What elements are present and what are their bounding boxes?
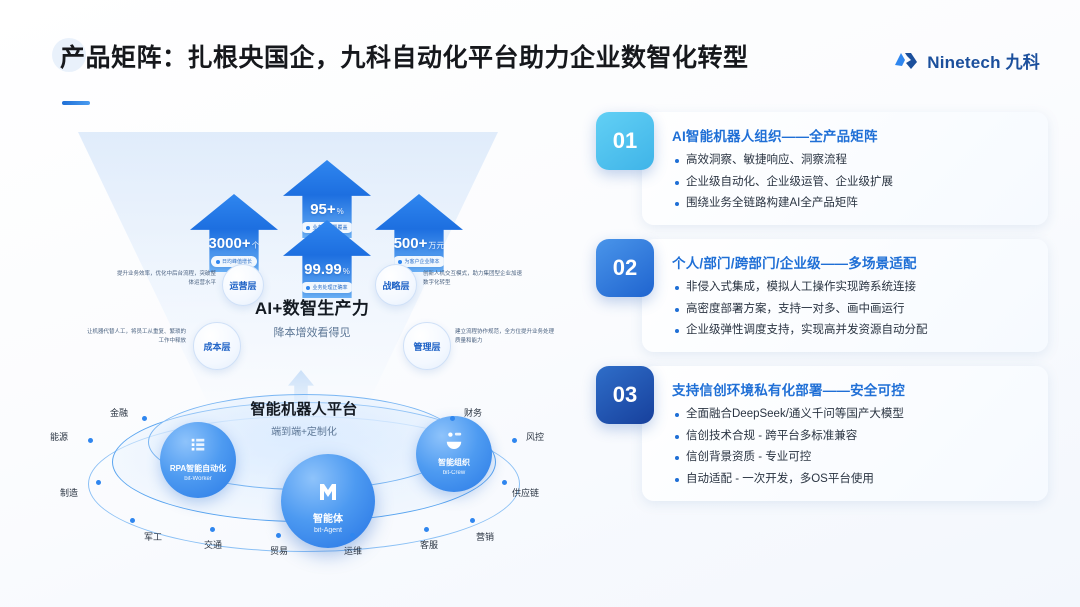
card-title: AI智能机器人组织——全产品矩阵: [672, 125, 1032, 145]
card-title: 个人/部门/跨部门/企业级——多场景适配: [672, 252, 1032, 272]
platform-node-crew[interactable]: 智能组织 bit-Crew: [416, 416, 492, 492]
metric-unit: %: [337, 207, 344, 216]
node-name: 智能体: [313, 514, 343, 525]
metric-number: 3000+: [208, 235, 250, 252]
card-bullet: 企业级弹性调度支持，实现高并发资源自动分配: [672, 322, 1032, 339]
industry-dot: [450, 416, 455, 421]
layer-note-strategy: 创新人机交互模式，助力集团型企业加速数字化转型: [423, 270, 527, 287]
card-bullet: 信创背景资质 - 专业可控: [672, 449, 1032, 466]
industry-dot: [142, 416, 147, 421]
card-bullet: 自动适配 - 一次开发，多OS平台使用: [672, 471, 1032, 488]
industry-label-trade: 贸易: [270, 544, 288, 557]
card-bullet: 高效洞察、敏捷响应、洞察流程: [672, 152, 1032, 169]
platform-node-agent[interactable]: 智能体 bit-Agent: [281, 454, 375, 548]
funnel-core-label: AI+数智生产力 降本增效看得见: [212, 294, 412, 340]
card-bullet-list: 非侵入式集成，模拟人工操作实现跨系统连接 高密度部署方案，支持一对多、画中画运行…: [672, 279, 1032, 339]
industry-label-marketing: 营销: [476, 530, 494, 543]
node-subname: bit-Agent: [314, 527, 342, 534]
card-bullet: 全面融合DeepSeek/通义千问等国产大模型: [672, 406, 1032, 423]
core-title: AI+数智生产力: [212, 294, 412, 319]
title-accent-bar: [62, 101, 90, 105]
layer-note-management: 建立流程协作规范，全方位提升业务处理质量和能力: [455, 328, 559, 345]
logo-text: Ninetech 九科: [927, 48, 1040, 73]
industry-label-risk: 风控: [526, 430, 544, 443]
industry-dot: [470, 518, 475, 523]
card-bullet: 信创技术合规 - 跨平台多标准兼容: [672, 428, 1032, 445]
metric-value: 3000+个: [208, 236, 259, 251]
platform-node-rpa[interactable]: RPA智能自动化 bit-Worker: [160, 422, 236, 498]
slide-root: 产品矩阵：扎根央国企，九科自动化平台助力企业数智化转型 Ninetech 九科 …: [0, 0, 1080, 607]
metric-value: 99.99%: [304, 262, 350, 277]
robot-platform-section: 智能机器人平台 端到端+定制化 RPA智能自动化 bit-Worker: [26, 394, 586, 592]
industry-dot: [502, 480, 507, 485]
industry-label-supply-chain: 供应链: [512, 486, 539, 499]
feature-card[interactable]: 02 个人/部门/跨部门/企业级——多场景适配 非侵入式集成，模拟人工操作实现跨…: [596, 239, 1048, 352]
industry-label-transport: 交通: [204, 538, 222, 551]
brand-logo: Ninetech 九科: [894, 48, 1040, 73]
metric-number: 500+: [394, 235, 428, 252]
page-title: 产品矩阵：扎根央国企，九科自动化平台助力企业数智化转型: [60, 38, 749, 74]
dot-icon: [306, 226, 310, 230]
industry-label-service: 客服: [420, 538, 438, 551]
industry-dot: [350, 533, 355, 538]
card-bullet-list: 高效洞察、敏捷响应、洞察流程 企业级自动化、企业级运管、企业级扩展 围绕业务全链…: [672, 152, 1032, 212]
industry-dot: [276, 533, 281, 538]
metric-value: 500+万元: [394, 236, 445, 251]
industry-label-military: 军工: [144, 530, 162, 543]
layer-note-cost: 让机器代替人工，将员工从重复、繁琐的工作中释放: [82, 328, 186, 345]
industry-dot: [424, 527, 429, 532]
metric-unit: %: [343, 267, 350, 276]
dot-icon: [216, 260, 220, 264]
card-bullet: 企业级自动化、企业级运管、企业级扩展: [672, 174, 1032, 191]
platform-title: 智能机器人平台: [174, 398, 434, 419]
card-body: 个人/部门/跨部门/企业级——多场景适配 非侵入式集成，模拟人工操作实现跨系统连…: [642, 239, 1048, 352]
card-number-badge: 03: [596, 366, 654, 424]
metric-unit: 万元: [428, 241, 444, 250]
industry-label-finance: 金融: [110, 406, 128, 419]
card-bullet: 非侵入式集成，模拟人工操作实现跨系统连接: [672, 279, 1032, 296]
industry-label-operations: 运维: [344, 544, 362, 557]
node-name: RPA智能自动化: [170, 465, 226, 474]
value-funnel-diagram: 3000+个 日均峰值增长 95+% 业务工作量覆盖 99.99% 业务处理正确…: [20, 112, 580, 592]
node-name: 智能组织: [438, 459, 470, 468]
feature-card[interactable]: 03 支持信创环境私有化部署——安全可控 全面融合DeepSeek/通义千问等国…: [596, 366, 1048, 501]
metric-unit: 个: [252, 241, 260, 250]
card-bullet: 围绕业务全链路构建AI全产品矩阵: [672, 195, 1032, 212]
industry-dot: [88, 438, 93, 443]
industry-dot: [512, 438, 517, 443]
metric-chip: 业务处理正确率: [301, 282, 352, 293]
layer-note-operation: 提升业务效率，优化中后台流程，突破整体运营水平: [112, 270, 216, 287]
industry-dot: [210, 527, 215, 532]
card-body: AI智能机器人组织——全产品矩阵 高效洞察、敏捷响应、洞察流程 企业级自动化、企…: [642, 112, 1048, 225]
agent-m-icon: [316, 480, 340, 509]
ninetech-logo-icon: [894, 51, 920, 71]
dot-icon: [306, 286, 310, 290]
industry-label-manufacturing: 制造: [60, 486, 78, 499]
document-lines-icon: [189, 437, 207, 460]
metric-number: 95+: [310, 201, 335, 218]
feature-card-list: 01 AI智能机器人组织——全产品矩阵 高效洞察、敏捷响应、洞察流程 企业级自动…: [596, 112, 1048, 515]
node-subname: bit-Worker: [184, 476, 212, 482]
card-number-badge: 02: [596, 239, 654, 297]
industry-label-finance-dept: 财务: [464, 406, 482, 419]
dot-icon: [398, 260, 402, 264]
crew-group-icon: [445, 431, 463, 454]
industry-label-energy: 能源: [50, 430, 68, 443]
metric-value: 95+%: [310, 202, 344, 217]
industry-dot: [130, 518, 135, 523]
core-subtitle: 降本增效看得见: [212, 324, 412, 340]
card-bullet: 高密度部署方案，支持一对多、画中画运行: [672, 301, 1032, 318]
card-bullet-list: 全面融合DeepSeek/通义千问等国产大模型 信创技术合规 - 跨平台多标准兼…: [672, 406, 1032, 488]
metric-number: 99.99: [304, 261, 342, 278]
card-body: 支持信创环境私有化部署——安全可控 全面融合DeepSeek/通义千问等国产大模…: [642, 366, 1048, 501]
card-number-badge: 01: [596, 112, 654, 170]
metric-chip-label: 业务处理正确率: [312, 284, 347, 291]
slide-header: 产品矩阵：扎根央国企，九科自动化平台助力企业数智化转型 Ninetech 九科: [0, 0, 1080, 105]
industry-dot: [96, 480, 101, 485]
metric-chip-label: 为客户企业降本: [404, 258, 439, 265]
feature-card[interactable]: 01 AI智能机器人组织——全产品矩阵 高效洞察、敏捷响应、洞察流程 企业级自动…: [596, 112, 1048, 225]
card-title: 支持信创环境私有化部署——安全可控: [672, 379, 1032, 399]
node-subname: bit-Crew: [443, 470, 465, 476]
